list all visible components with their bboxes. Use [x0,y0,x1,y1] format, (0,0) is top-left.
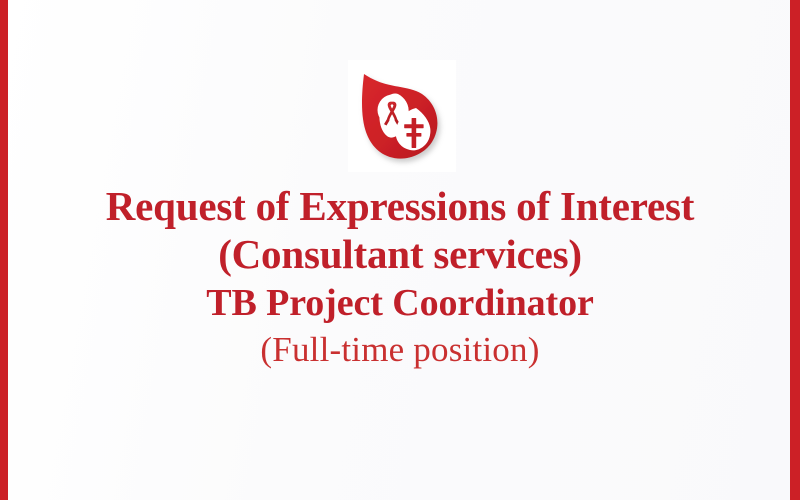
organization-logo [348,60,456,172]
announcement-poster: Request of Expressions of Interest (Cons… [0,0,800,500]
headline-line-1: Request of Expressions of Interest [0,186,800,227]
headline-block: Request of Expressions of Interest (Cons… [0,186,800,367]
headline-line-2: (Consultant services) [0,234,800,275]
poster-content: Request of Expressions of Interest (Cons… [0,0,800,500]
headline-line-3: TB Project Coordinator [0,284,800,322]
headline-line-4: (Full-time position) [0,332,800,367]
